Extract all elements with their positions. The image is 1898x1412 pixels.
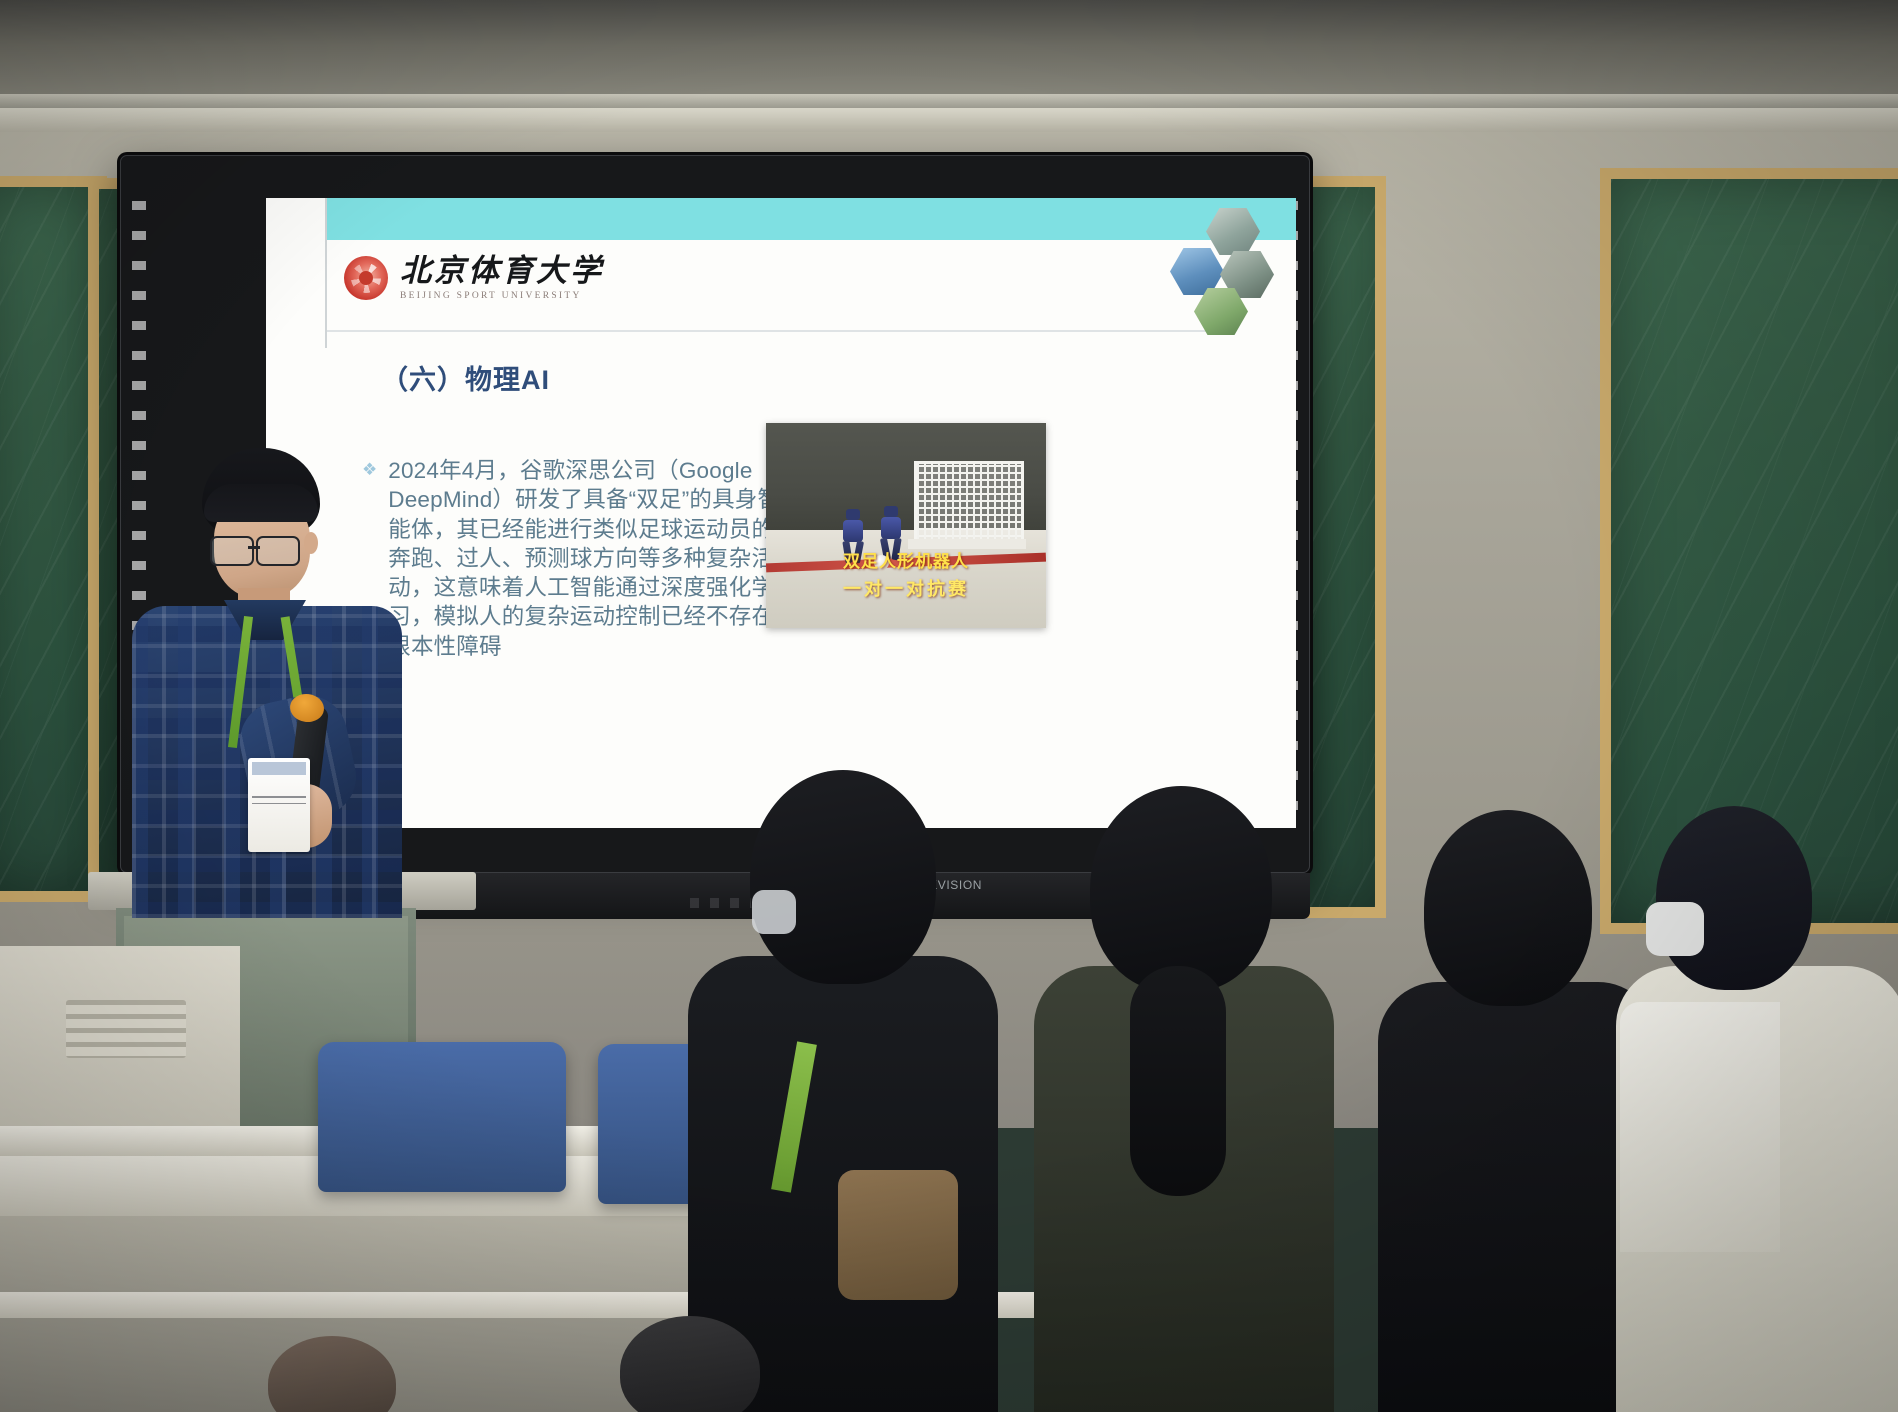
face-mask-2 bbox=[1646, 902, 1704, 956]
ponytail bbox=[1130, 966, 1226, 1196]
eyeglasses-left-lens bbox=[210, 536, 254, 566]
presenter-fringe bbox=[204, 484, 318, 522]
slide-body-text: 2024年4月，谷歌深思公司（Google DeepMind）研发了具备“双足”… bbox=[388, 456, 782, 661]
swirl-logo-icon bbox=[344, 256, 388, 300]
face-mask bbox=[752, 890, 796, 934]
audience-member-6 bbox=[268, 1336, 418, 1412]
presenter-ear bbox=[304, 532, 318, 554]
classroom-photo: 北京体育大学 BEIJING SPORT UNIVERSITY （六）物理AI … bbox=[0, 0, 1898, 1412]
audience-bag bbox=[838, 1170, 958, 1300]
presenter bbox=[96, 448, 436, 918]
university-logo: 北京体育大学 BEIJING SPORT UNIVERSITY bbox=[344, 255, 604, 301]
soccer-goal-net bbox=[914, 461, 1024, 547]
audience-member-4 bbox=[1616, 806, 1898, 1412]
badge-text-lines bbox=[252, 796, 306, 804]
slide-title: （六）物理AI bbox=[381, 358, 550, 397]
eyeglasses-bridge bbox=[248, 546, 260, 549]
robot-video-thumbnail[interactable]: 双足人形机器人 一对一对抗赛 bbox=[766, 423, 1046, 628]
chair-1 bbox=[318, 1042, 566, 1192]
logo-chinese-name: 北京体育大学 bbox=[400, 255, 604, 286]
video-caption-line2: 一对一对抗赛 bbox=[766, 575, 1046, 601]
cabinet-vents bbox=[66, 1000, 186, 1058]
audience-member-5 bbox=[600, 1316, 800, 1412]
slide-left-rule bbox=[325, 198, 327, 348]
hexagon-photo-cluster bbox=[1148, 208, 1280, 326]
audience-vest bbox=[1620, 1002, 1780, 1252]
logo-english-name: BEIJING SPORT UNIVERSITY bbox=[400, 291, 604, 301]
video-caption-line1: 双足人形机器人 bbox=[766, 547, 1046, 572]
ceiling-wall bbox=[0, 0, 1898, 112]
wall-trim bbox=[0, 108, 1898, 132]
hex-photo-1 bbox=[1206, 208, 1260, 255]
audience-member-2 bbox=[1034, 786, 1334, 1412]
badge-header bbox=[252, 762, 306, 775]
slide-header-rule bbox=[327, 330, 1207, 332]
hex-photo-2 bbox=[1170, 248, 1224, 295]
eyeglasses-right-lens bbox=[256, 536, 300, 566]
